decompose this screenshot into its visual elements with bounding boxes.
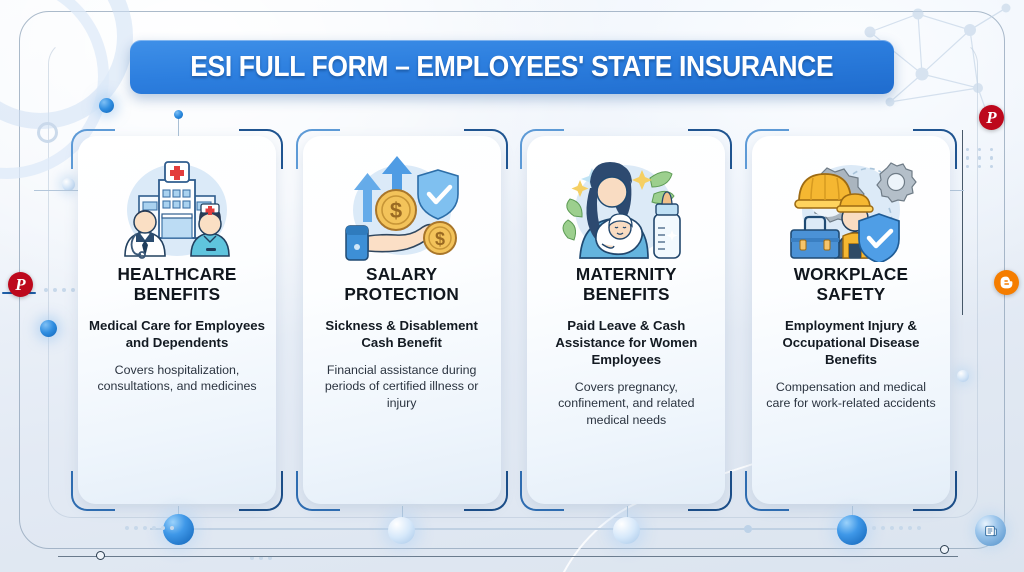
connector-dotrow-left (125, 526, 174, 530)
pinterest-icon-top-right[interactable]: P (979, 105, 1004, 130)
mother-baby-bottle-icon (558, 152, 694, 262)
card-top-stem-1 (178, 116, 179, 136)
card-title: WORKPLACE SAFETY (763, 264, 939, 305)
infographic-canvas: ESI FULL FORM – EMPLOYEES' STATE INSURAN… (0, 0, 1024, 572)
decorative-vline-right (962, 130, 963, 315)
svg-text:$: $ (390, 198, 402, 223)
card-subtitle: Employment Injury & Occupational Disease… (763, 317, 939, 368)
card-subtitle: Medical Care for Employees and Dependent… (89, 317, 265, 351)
card-subtitle: Paid Leave & Cash Assistance for Women E… (538, 317, 714, 368)
connector-midpoint-dot (744, 525, 752, 533)
title-banner: ESI FULL FORM – EMPLOYEES' STATE INSURAN… (130, 40, 894, 94)
svg-text:$: $ (435, 229, 445, 249)
card-description: Financial assistance during periods of c… (314, 362, 490, 411)
card-description: Covers pregnancy, confinement, and relat… (538, 379, 714, 428)
decorative-dotrow-left (44, 288, 75, 292)
card-node-sphere-2 (388, 517, 415, 544)
benefit-card-salary-protection[interactable]: $ $ SALARY PROTECTION Sickness & Disable… (303, 136, 501, 504)
bottom-rail-endcap-left (96, 551, 105, 560)
hand-coins-shield-icon: $ $ (334, 152, 470, 262)
decorative-dot-accent-2 (40, 320, 57, 337)
decorative-ring-small (37, 122, 58, 143)
benefit-card-workplace-safety[interactable]: WORKPLACE SAFETY Employment Injury & Occ… (752, 136, 950, 504)
bottom-rail-endcap-right (940, 545, 949, 554)
card-description: Covers hospitalization, consultations, a… (89, 362, 265, 395)
bottom-rail-line (58, 556, 958, 557)
card-top-dot-1 (174, 110, 183, 119)
decorative-dot-accent-1 (99, 98, 114, 113)
document-badge-icon[interactable] (975, 515, 1006, 546)
benefit-card-maternity[interactable]: MATERNITY BENEFITS Paid Leave & Cash Ass… (527, 136, 725, 504)
worker-helmet-gear-shield-icon (783, 152, 919, 262)
hospital-doctor-nurse-icon (109, 152, 245, 262)
pinterest-letter: P (986, 108, 996, 128)
card-node-sphere-3 (613, 517, 640, 544)
blogger-glyph (999, 275, 1014, 290)
page-title: ESI FULL FORM – EMPLOYEES' STATE INSURAN… (190, 51, 833, 84)
benefit-cards-row: HEALTHCARE BENEFITS Medical Care for Emp… (78, 136, 950, 504)
card-description: Compensation and medical care for work-r… (763, 379, 939, 412)
connector-dotrow-right (872, 526, 921, 530)
pinterest-letter: P (15, 275, 25, 295)
card-title: HEALTHCARE BENEFITS (89, 264, 265, 305)
pinterest-icon-left[interactable]: P (8, 272, 33, 297)
decorative-dot-pale-2 (957, 370, 969, 382)
document-glyph (983, 523, 999, 539)
card-node-sphere-4 (837, 515, 867, 545)
benefit-card-healthcare[interactable]: HEALTHCARE BENEFITS Medical Care for Emp… (78, 136, 276, 504)
card-title: SALARY PROTECTION (314, 264, 490, 305)
card-subtitle: Sickness & Disablement Cash Benefit (314, 317, 490, 351)
blogger-icon[interactable] (994, 270, 1019, 295)
card-connector-line (150, 528, 860, 530)
card-title: MATERNITY BENEFITS (538, 264, 714, 305)
